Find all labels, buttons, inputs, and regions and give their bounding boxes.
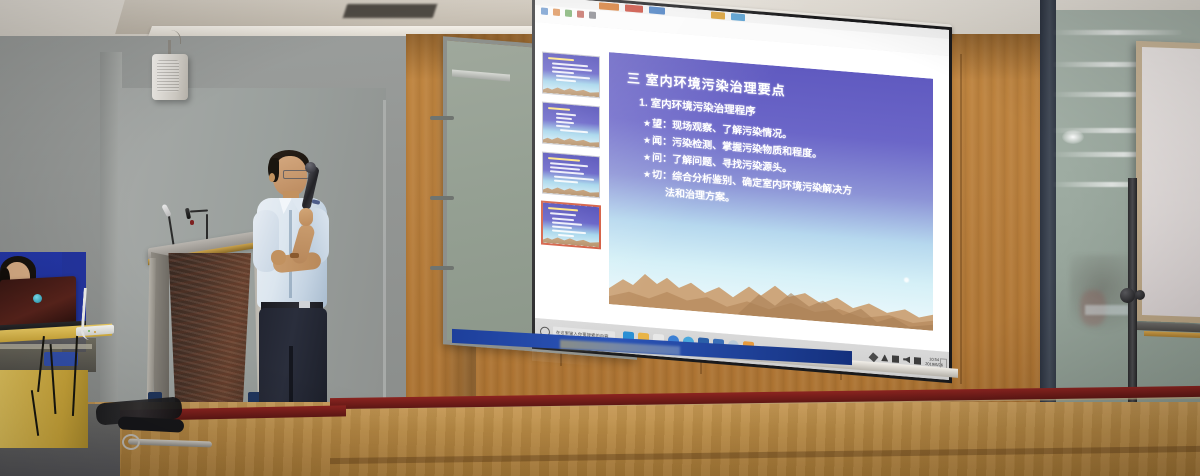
input-method-icon[interactable]: [914, 357, 921, 365]
thumbnail-dune-graphic: [543, 184, 599, 198]
slide-editing-stage[interactable]: 三 室内环境污染治理要点 1. 室内环境污染治理程序 ★望：现场观察、了解污染情…: [609, 52, 933, 349]
thumbnail-dune-graphic: [543, 134, 599, 148]
presenter-ear: [269, 173, 275, 182]
whiteboard-adjust-knob[interactable]: [1135, 290, 1145, 300]
ceiling-shadow-gap: [343, 4, 438, 18]
slide-thumbnail[interactable]: [543, 103, 599, 148]
mic-indicator-light: [190, 220, 194, 225]
metal-ring: [122, 434, 140, 450]
presenter-glasses: [283, 170, 309, 179]
powerpoint-workspace: 三 室内环境污染治理要点 1. 室内环境污染治理程序 ★望：现场观察、了解污染情…: [535, 22, 949, 352]
board-clip: [430, 116, 454, 120]
lecture-hall-photo: 三 室内环境污染治理要点 1. 室内环境污染治理程序 ★望：现场观察、了解污染情…: [0, 0, 1200, 476]
volume-icon[interactable]: [903, 356, 910, 364]
slide-thumbnail-selected[interactable]: [543, 203, 599, 248]
network-icon[interactable]: [892, 355, 899, 363]
star-icon: ★: [643, 169, 651, 180]
screen-surface: 三 室内环境污染治理要点 1. 室内环境污染治理程序 ★望：现场观察、了解污染情…: [535, 0, 949, 380]
desk-blue-object: [44, 352, 78, 366]
chevron-up-icon[interactable]: [881, 354, 888, 362]
star-icon: ★: [643, 118, 651, 129]
glass-reflection-streak: [1052, 30, 1182, 35]
ribbon-tab[interactable]: [711, 11, 725, 19]
board-clip: [430, 196, 454, 200]
ribbon-icon[interactable]: [577, 10, 584, 18]
wall-left-seam: [383, 100, 386, 436]
presenter-wrist-band: [290, 253, 299, 258]
board-clip: [430, 266, 454, 270]
presenter-right-hand: [299, 208, 313, 226]
router-led-icon: [94, 331, 96, 333]
ribbon-icon[interactable]: [553, 8, 560, 16]
whiteboard-adjust-knob[interactable]: [1120, 288, 1135, 303]
slide-thumbnail[interactable]: [543, 53, 599, 98]
desk-shelf: [0, 344, 92, 349]
wood-seam-4: [960, 54, 962, 384]
star-icon: ★: [643, 152, 651, 163]
ribbon-tab[interactable]: [731, 13, 745, 21]
ribbon-icon[interactable]: [589, 11, 596, 19]
speaker-grille-icon: [157, 60, 179, 92]
ribbon-tab[interactable]: [649, 6, 665, 14]
current-slide[interactable]: 三 室内环境污染治理要点 1. 室内环境污染治理程序 ★望：现场观察、了解污染情…: [609, 52, 933, 331]
presenter-left-hand: [271, 250, 286, 265]
screen-border: 三 室内环境污染治理要点 1. 室内环境污染治理程序 ★望：现场观察、了解污染情…: [532, 0, 952, 383]
mobile-whiteboard-surface[interactable]: [1142, 47, 1200, 317]
slide-thumbnail[interactable]: [543, 153, 599, 198]
laptop-logo-icon: [33, 294, 42, 303]
ribbon-icon[interactable]: [565, 9, 572, 17]
ribbon-tab[interactable]: [625, 4, 643, 12]
pen-icon[interactable]: [869, 352, 879, 362]
star-icon: ★: [643, 135, 651, 146]
ceiling-light-reflection: [1062, 130, 1084, 144]
slide-thumbnail-panel[interactable]: [543, 53, 601, 320]
ribbon-icon[interactable]: [541, 7, 548, 15]
thumbnail-dune-graphic: [543, 84, 599, 98]
